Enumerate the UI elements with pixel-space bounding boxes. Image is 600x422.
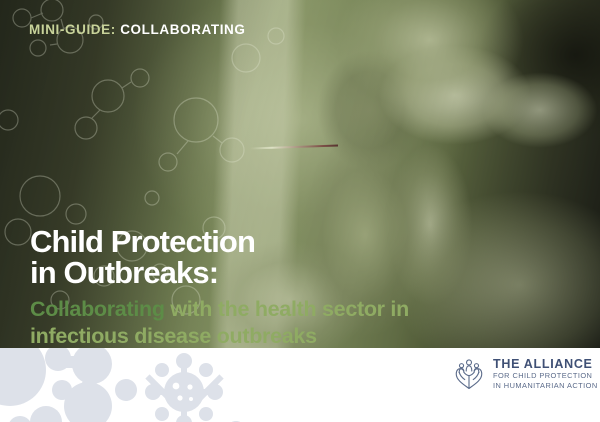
virus-icon — [145, 353, 224, 422]
kicker-main: COLLABORATING — [120, 22, 245, 37]
subtitle-line-1: Collaborating with the health sector in — [30, 296, 409, 323]
document-cover: MINI-GUIDE: COLLABORATING Child Protecti… — [0, 0, 600, 422]
alliance-logo-text: THE ALLIANCE FOR CHILD PROTECTION IN HUM… — [493, 358, 598, 390]
subtitle-rest: with the health sector in — [165, 297, 409, 321]
subtitle-strong: Collaborating — [30, 297, 165, 321]
kicker: MINI-GUIDE: COLLABORATING — [29, 22, 246, 37]
title-line-1: Child Protection — [30, 226, 255, 257]
page-title: Child Protection in Outbreaks: — [30, 226, 255, 288]
hands-holding-children-icon — [452, 357, 486, 391]
page-subtitle: Collaborating with the health sector in … — [30, 296, 409, 350]
logo-line-3: IN HUMANITARIAN ACTION — [493, 381, 598, 391]
subtitle-line-2: infectious disease outbreaks — [30, 323, 409, 350]
title-line-2: in Outbreaks: — [30, 257, 255, 288]
logo-line-1: THE ALLIANCE — [493, 358, 598, 371]
alliance-logo[interactable]: THE ALLIANCE FOR CHILD PROTECTION IN HUM… — [452, 357, 598, 391]
kicker-prefix: MINI-GUIDE: — [29, 22, 116, 37]
logo-line-2: FOR CHILD PROTECTION — [493, 371, 598, 381]
germ-blob-cluster-icon — [0, 348, 280, 422]
